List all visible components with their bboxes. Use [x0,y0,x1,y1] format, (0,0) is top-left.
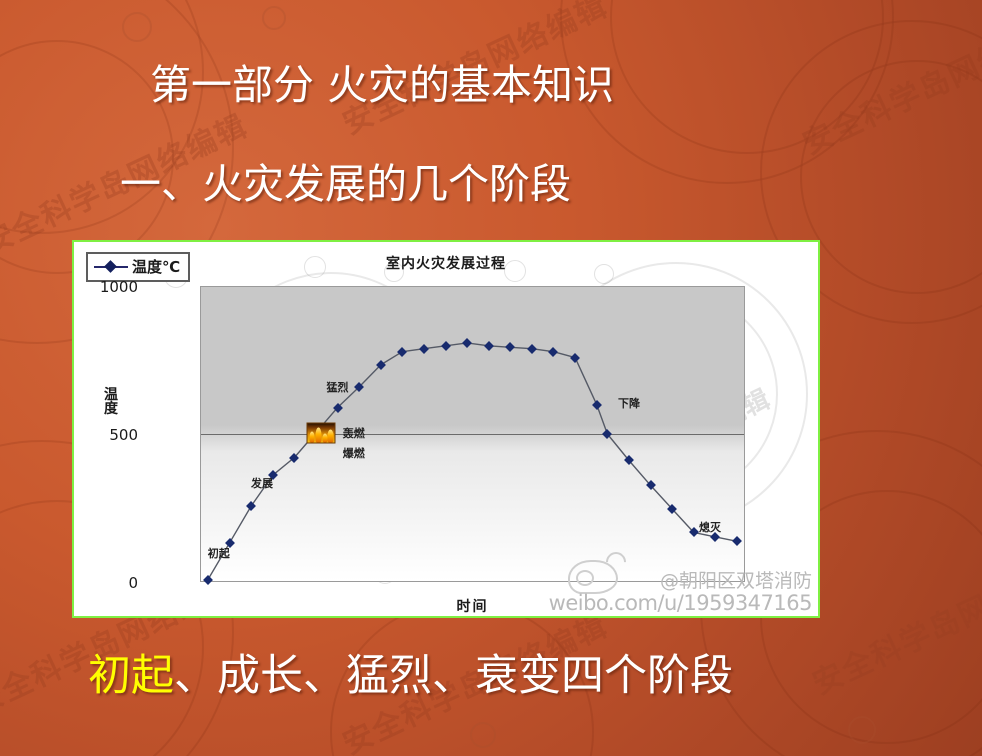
annotation-猛烈: 猛烈 [327,379,349,395]
annotation-发展: 发展 [251,475,273,491]
decor-bubble [470,722,496,748]
x-axis-label: 时间 [200,596,745,616]
annotation-熄灭: 熄灭 [699,519,721,535]
y-tick-1000: 1000 [78,278,138,296]
temperature-series-line [201,287,744,581]
annotation-轰燃: 轰燃 [343,425,365,441]
slide-footer-text: 初起、成长、猛烈、衰变四个阶段 [88,641,928,703]
slide-title: 第一部分 火灾的基本知识 [150,62,850,109]
slide-subtitle: 一、火灾发展的几个阶段 [120,150,880,210]
y-tick-500: 500 [78,426,138,444]
weibo-logo-icon [568,560,618,594]
chart-title: 室内火灾发展过程 [74,253,818,273]
fire-development-chart: 安全科学岛网络编辑 安全科学岛网络编辑 温度℃ 室内火灾发展过程 1000 50… [72,240,820,618]
footer-highlight: 初起 [88,651,174,701]
y-tick-0: 0 [78,574,138,592]
annotation-爆燃: 爆燃 [343,445,365,461]
annotation-下降: 下降 [618,395,640,411]
annotation-初起: 初起 [208,545,230,561]
decor-bubble [122,12,152,42]
plot-area: 初起发展猛烈轰燃爆燃下降熄灭 [200,286,745,582]
slide-canvas: 安全科学岛网络编辑 安全科学岛网络编辑 安全科学岛网络编辑 安全科学岛网络编辑 … [0,0,982,756]
footer-rest: 、成长、猛烈、衰变四个阶段 [174,651,733,701]
decor-bubble [262,6,286,30]
y-axis-label: 温度 [102,388,120,416]
decor-bubble [848,716,876,744]
flame-icon [307,422,336,443]
